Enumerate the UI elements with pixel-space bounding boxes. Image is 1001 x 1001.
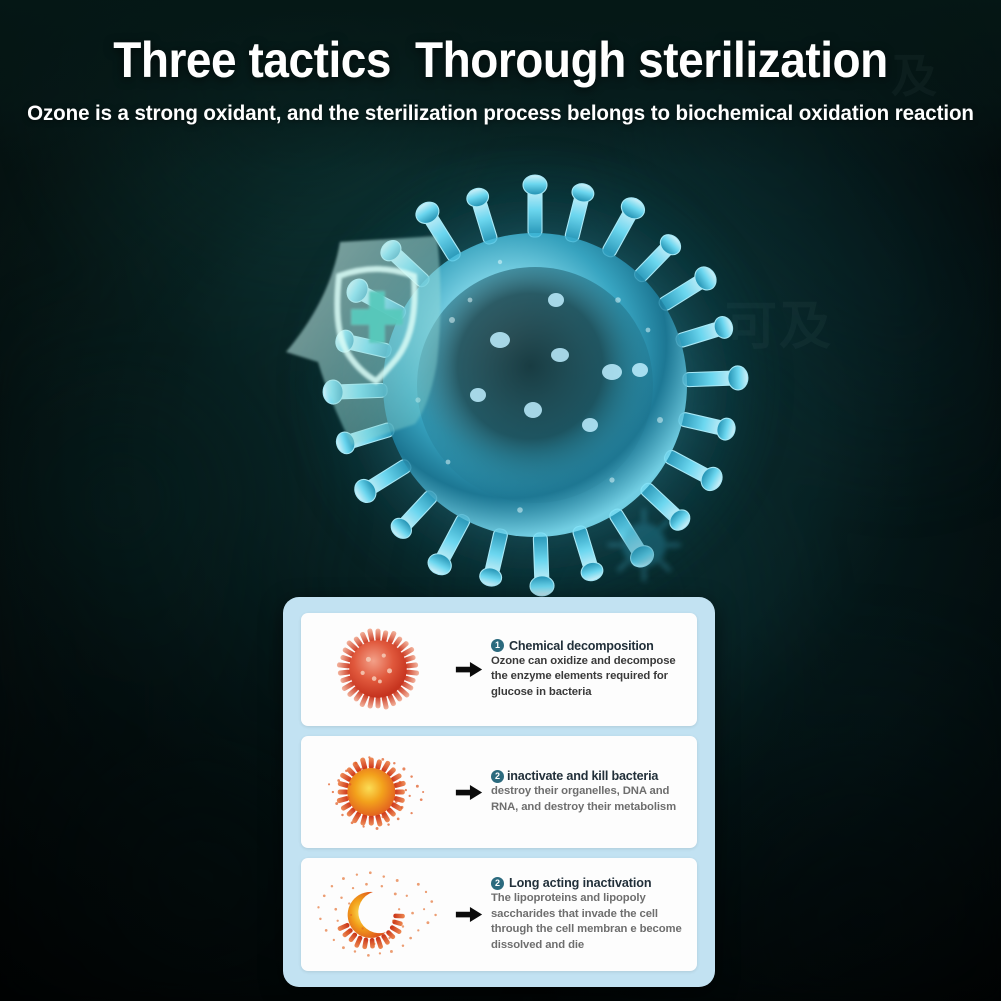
tactics-panel: 1 Chemical decomposition Ozone can oxidi… [283,597,715,987]
orange-virus-dissolving-icon [307,742,449,843]
arrow-right-icon [449,783,489,802]
tactic-card-1-head: 1 Chemical decomposition [491,639,687,653]
page-subtitle: Ozone is a strong oxidant, and the steri… [23,101,979,126]
tactic-card-2-text: 2 inactivate and kill bacteria destroy t… [489,769,687,815]
arrow-right-icon [449,660,489,679]
tactic-card-3-title: Long acting inactivation [509,876,651,890]
badge-number-2: 2 [491,770,504,783]
tactic-card-3-text: 2 Long acting inactivation The lipoprote… [489,876,687,952]
tactic-card-2[interactable]: 2 inactivate and kill bacteria destroy t… [301,736,697,849]
tactic-card-1[interactable]: 1 Chemical decomposition Ozone can oxidi… [301,613,697,726]
tactic-card-2-head: 2 inactivate and kill bacteria [491,769,687,783]
tactic-card-2-title: inactivate and kill bacteria [507,769,658,783]
tactic-card-1-title: Chemical decomposition [509,639,654,653]
small-virus-particle [609,510,679,580]
tactic-card-3-body: The lipoproteins and lipopoly saccharide… [491,891,687,952]
badge-number-3: 2 [491,877,504,890]
page-title-left: Three tactics [113,32,391,88]
red-virus-intact-icon [307,619,449,720]
page-title-right: Thorough sterilization [415,32,888,88]
page-title: Three tacticsThorough sterilization [40,0,961,87]
arrow-right-icon [449,905,489,924]
tactic-card-1-text: 1 Chemical decomposition Ozone can oxidi… [489,639,687,700]
tactic-card-2-body: destroy their organelles, DNA and RNA, a… [491,784,687,815]
tactic-card-1-body: Ozone can oxidize and decompose the enzy… [491,654,687,700]
poster-canvas: 及 可及 [0,0,1001,1001]
orange-virus-disintegrated-icon [307,864,449,965]
tactic-card-3-head: 2 Long acting inactivation [491,876,687,890]
tactic-card-3[interactable]: 2 Long acting inactivation The lipoprote… [301,858,697,971]
badge-number-1: 1 [491,639,504,652]
header: Three tacticsThorough sterilization Ozon… [0,0,1001,126]
